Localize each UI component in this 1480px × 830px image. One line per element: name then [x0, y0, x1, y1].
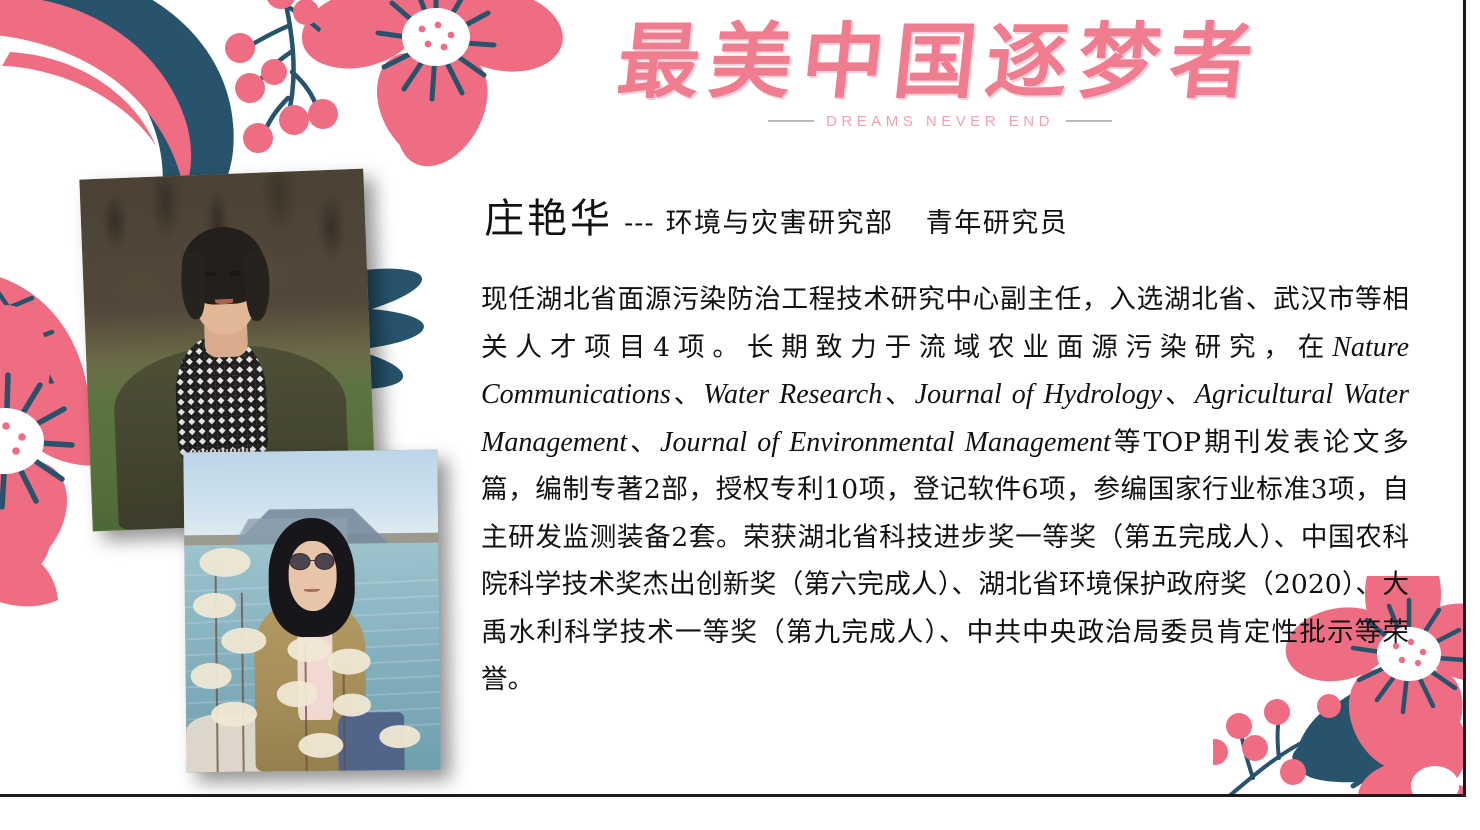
slide-header: 最美中国逐梦者 DREAMS NEVER END: [600, 18, 1280, 130]
subtitle-text: DREAMS NEVER END: [826, 113, 1054, 130]
presentation-slide: 最美中国逐梦者 DREAMS NEVER END: [0, 0, 1466, 797]
photo2-flower: [287, 636, 330, 662]
page-margin-bottom: [0, 797, 1480, 830]
bio-sep-3: 、: [1162, 379, 1195, 410]
name-separator: ---: [618, 208, 660, 239]
person-name-line: 庄艳华 --- 环境与灾害研究部 青年研究员: [484, 186, 1068, 244]
photo2-subject-sunglass-right: [314, 553, 334, 570]
photo2-flower: [333, 694, 371, 717]
journal-name-5: Journal of Environmental Management: [660, 427, 1111, 458]
photo2-flower: [379, 725, 420, 748]
subtitle-dash-right: [1066, 120, 1112, 122]
photo2-flower: [191, 663, 232, 689]
photo2-subject-sunglass-left: [290, 553, 310, 570]
bio-sep-4: 、: [627, 427, 660, 458]
photo2-subject-sunglass-bridge: [310, 560, 315, 562]
person-name: 庄艳华: [484, 196, 613, 242]
page-margin-right: [1466, 0, 1480, 830]
bio-segment-2: 等TOP期刊发表论文多篇，编制专著2部，授权专利10项，登记软件6项，参编国家行…: [481, 427, 1409, 696]
bio-sep-2: 、: [882, 379, 915, 410]
journal-name-2: Water Research: [703, 379, 882, 410]
page-title: 最美中国逐梦者: [595, 18, 1284, 107]
photo2-flower: [221, 627, 267, 653]
photo2-flower: [200, 548, 251, 577]
person-department: 环境与灾害研究部: [666, 208, 894, 239]
photo2-subject-face: [288, 540, 337, 611]
person-role: 青年研究员: [926, 208, 1069, 239]
subtitle-dash-left: [768, 120, 814, 122]
journal-name-3: Journal of Hydrology: [915, 379, 1163, 410]
subtitle-row: DREAMS NEVER END: [600, 113, 1280, 130]
bio-segment-1: 现任湖北省面源污染防治工程技术研究中心副主任，入选湖北省、武汉市等相关人才项目4…: [481, 284, 1409, 363]
portrait-photo-lakeside: [183, 450, 440, 773]
bio-sep-1: 、: [671, 379, 704, 410]
biography-paragraph: 现任湖北省面源污染防治工程技术研究中心副主任，入选湖北省、武汉市等相关人才项目4…: [481, 276, 1409, 704]
